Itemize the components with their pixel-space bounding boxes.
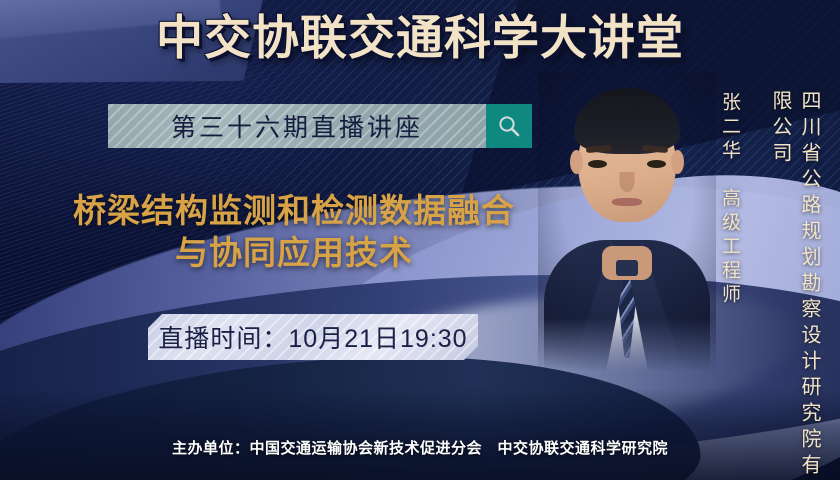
topic-line-2: 与协同应用技术 bbox=[14, 232, 574, 274]
decorative-bottom-shade bbox=[0, 388, 840, 480]
search-button[interactable] bbox=[486, 104, 532, 148]
search-icon bbox=[497, 114, 521, 138]
broadcast-time-label: 直播时间：10月21日19:30 bbox=[158, 319, 467, 355]
webinar-poster: 中交协联交通科学大讲堂 第三十六期直播讲座 桥梁结构监测和检测数据融合 与协同应… bbox=[0, 0, 840, 480]
episode-bar-body: 第三十六期直播讲座 bbox=[108, 104, 486, 148]
topic-line-1: 桥梁结构监测和检测数据融合 bbox=[14, 190, 574, 232]
organizers-footer: 主办单位：中国交通运输协会新技术促进分会 中交协联交通科学研究院 bbox=[0, 437, 840, 458]
main-title: 中交协联交通科学大讲堂 bbox=[0, 14, 840, 61]
episode-bar: 第三十六期直播讲座 bbox=[108, 104, 532, 148]
episode-label: 第三十六期直播讲座 bbox=[171, 108, 423, 144]
speaker-company: 四川省公路规划勘察设计研究院有限公司 bbox=[766, 90, 824, 480]
topic-title: 桥梁结构监测和检测数据融合 与协同应用技术 bbox=[14, 190, 574, 274]
broadcast-time-ribbon: 直播时间：10月21日19:30 bbox=[148, 314, 478, 360]
speaker-name-title: 张二华 高级工程师 bbox=[716, 92, 743, 308]
